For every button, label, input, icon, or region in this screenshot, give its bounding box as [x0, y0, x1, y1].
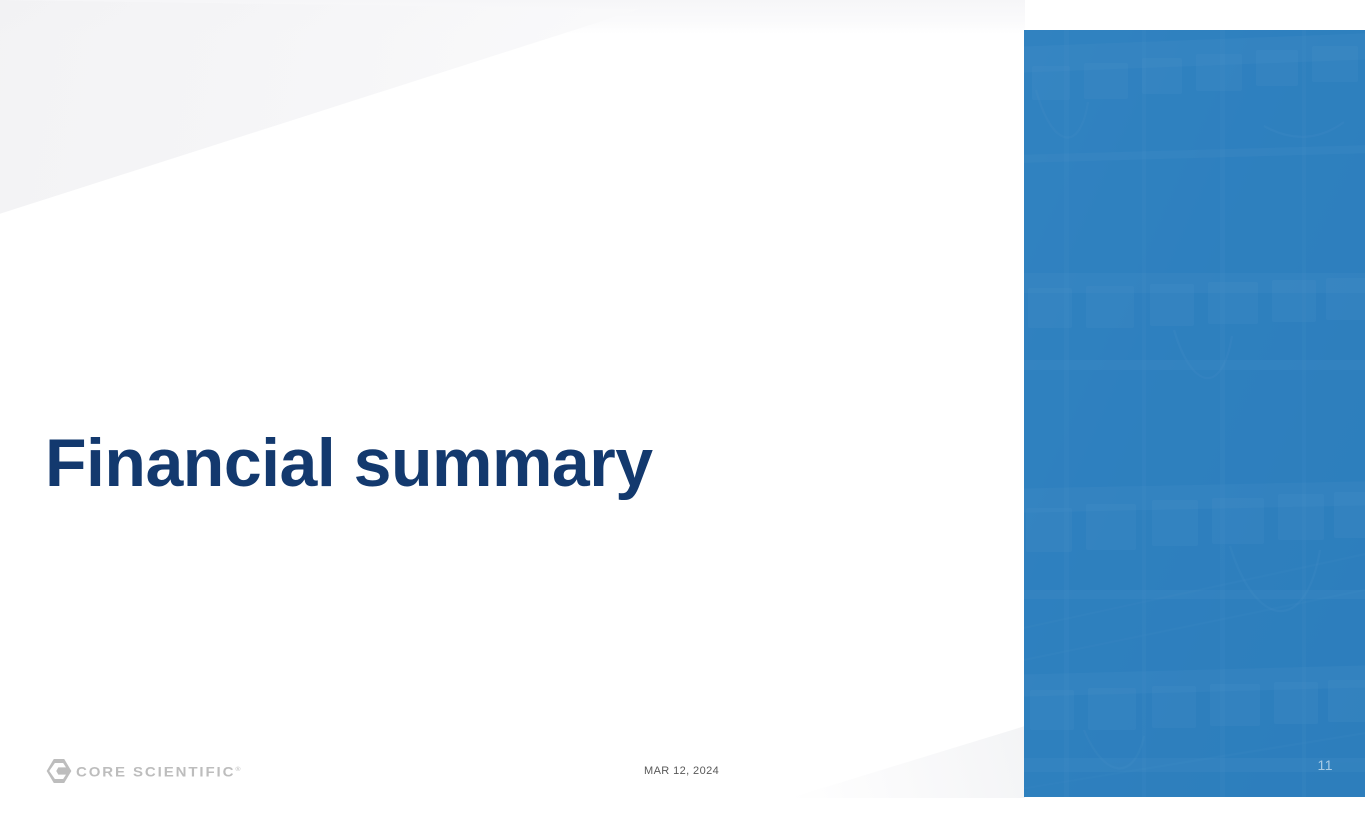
top-left-gray-wedge [0, 0, 640, 225]
logo-wordmark-text: CORE SCIENTIFIC [76, 764, 235, 780]
slide-canvas: 11 Financial summary MAR 12, 2024 CORE S… [0, 0, 1365, 829]
trademark-symbol: ® [235, 766, 240, 772]
photo-blue-tint [1024, 30, 1365, 797]
hexagon-c-icon [45, 758, 73, 784]
logo-wordmark: CORE SCIENTIFIC® [76, 764, 241, 780]
company-logo: CORE SCIENTIFIC® [45, 758, 241, 784]
photo-panel: 11 [1024, 30, 1365, 797]
page-title: Financial summary [45, 428, 653, 499]
top-gray-strip [0, 0, 1025, 34]
footer-date: MAR 12, 2024 [644, 765, 719, 777]
bottom-right-gray-wedge [790, 726, 1025, 798]
page-number: 11 [1317, 757, 1333, 773]
